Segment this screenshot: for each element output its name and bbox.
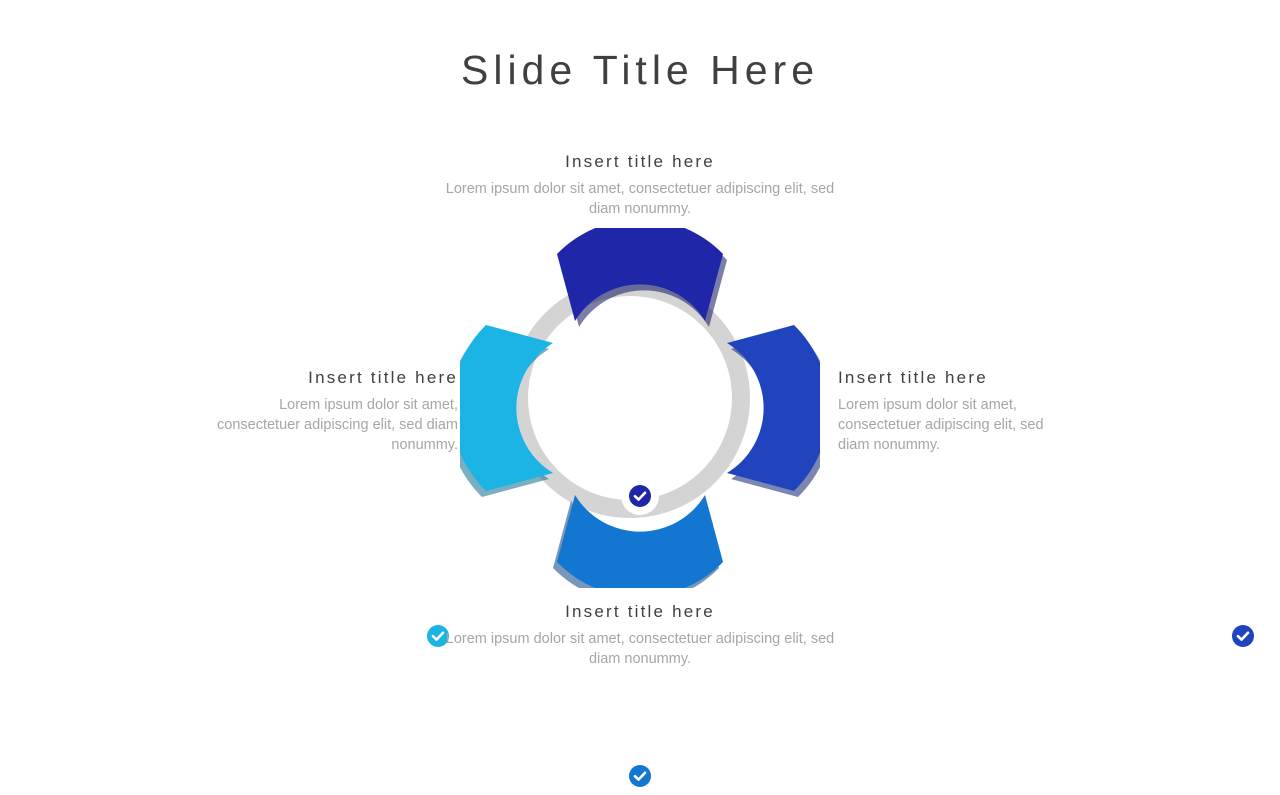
- block-body-right: Lorem ipsum dolor sit amet, consectetuer…: [838, 395, 1074, 455]
- check-icon: [629, 765, 651, 787]
- text-block-right: Insert title here Lorem ipsum dolor sit …: [838, 366, 1074, 455]
- text-block-bottom: Insert title here Lorem ipsum dolor sit …: [430, 600, 850, 669]
- block-title-right: Insert title here: [838, 366, 1074, 390]
- text-block-left: Insert title here Lorem ipsum dolor sit …: [206, 366, 458, 455]
- badge-bottom: [621, 757, 659, 795]
- check-icon: [629, 485, 651, 507]
- badge-right: [1224, 617, 1262, 655]
- block-title-left: Insert title here: [206, 366, 458, 390]
- block-title-bottom: Insert title here: [430, 600, 850, 624]
- badge-top: [621, 477, 659, 515]
- slide-canvas: Slide Title Here: [0, 0, 1280, 720]
- check-icon: [1232, 625, 1254, 647]
- block-body-bottom: Lorem ipsum dolor sit amet, consectetuer…: [430, 629, 850, 669]
- page-title: Slide Title Here: [0, 44, 1280, 96]
- text-block-top: Insert title here Lorem ipsum dolor sit …: [430, 150, 850, 219]
- block-body-top: Lorem ipsum dolor sit amet, consectetuer…: [430, 179, 850, 219]
- block-title-top: Insert title here: [430, 150, 850, 174]
- circular-process-diagram: [460, 228, 820, 588]
- block-body-left: Lorem ipsum dolor sit amet, consectetuer…: [206, 395, 458, 455]
- segment-left[interactable]: [460, 228, 640, 408]
